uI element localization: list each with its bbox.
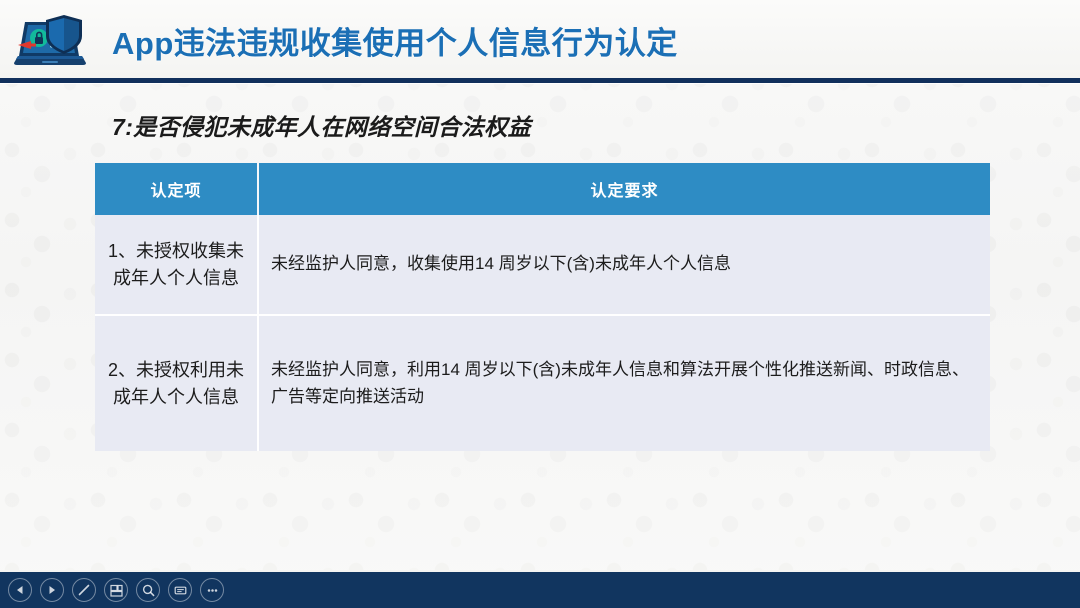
magnifier-icon <box>141 583 156 598</box>
section-subtitle: 7:是否侵犯未成年人在网络空间合法权益 <box>112 108 531 142</box>
slide-thumbnails-button[interactable] <box>104 578 128 602</box>
presentation-slide: App违法违规收集使用个人信息行为认定 7:是否侵犯未成年人在网络空间合法权益 … <box>0 0 1080 608</box>
previous-slide-button[interactable] <box>8 578 32 602</box>
cell-requirement-2: 未经监护人同意，利用14 周岁以下(含)未成年人信息和算法开展个性化推送新闻、时… <box>258 315 990 451</box>
table-header-row: 认定项 认定要求 <box>95 163 990 215</box>
cell-item-1: 1、未授权收集未成年人个人信息 <box>95 215 258 315</box>
certification-table: 认定项 认定要求 1、未授权收集未成年人个人信息 未经监护人同意，收集使用14 … <box>95 163 990 451</box>
certification-table-container: 认定项 认定要求 1、未授权收集未成年人个人信息 未经监护人同意，收集使用14 … <box>95 163 990 451</box>
pen-annotate-button[interactable] <box>72 578 96 602</box>
column-header-item: 认定项 <box>95 163 258 215</box>
presenter-view-button[interactable] <box>168 578 192 602</box>
triangle-left-icon <box>13 583 27 597</box>
presenter-screen-icon <box>173 583 188 598</box>
laptop-shield-security-icon <box>12 12 88 68</box>
next-slide-button[interactable] <box>40 578 64 602</box>
triangle-right-icon <box>45 583 59 597</box>
page-title: App违法违规收集使用个人信息行为认定 <box>112 18 678 63</box>
header-divider-rule <box>0 78 1080 83</box>
cell-requirement-1: 未经监护人同意，收集使用14 周岁以下(含)未成年人个人信息 <box>258 215 990 315</box>
more-options-button[interactable] <box>200 578 224 602</box>
table-row: 2、未授权利用未成年人个人信息 未经监护人同意，利用14 周岁以下(含)未成年人… <box>95 315 990 451</box>
cell-item-2: 2、未授权利用未成年人个人信息 <box>95 315 258 451</box>
grid-thumbnails-icon <box>109 583 124 598</box>
ellipsis-icon <box>205 583 220 598</box>
table-row: 1、未授权收集未成年人个人信息 未经监护人同意，收集使用14 周岁以下(含)未成… <box>95 215 990 315</box>
slide-header: App违法违规收集使用个人信息行为认定 <box>0 0 1080 80</box>
column-header-requirement: 认定要求 <box>258 163 990 215</box>
pen-icon <box>76 582 92 598</box>
zoom-search-button[interactable] <box>136 578 160 602</box>
slideshow-toolbar <box>0 570 1080 608</box>
